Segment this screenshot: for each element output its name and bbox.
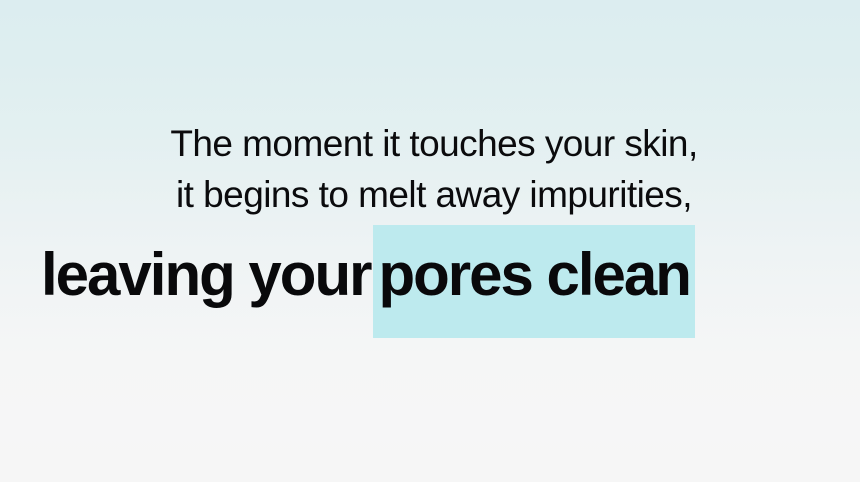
- headline-plain-text: leaving your: [41, 241, 374, 308]
- lede-line-1: The moment it touches your skin,: [0, 118, 860, 169]
- lede-text-block: The moment it touches your skin, it begi…: [0, 118, 860, 220]
- lede-line-2: it begins to melt away impurities,: [0, 169, 860, 220]
- promo-banner: The moment it touches your skin, it begi…: [0, 0, 860, 482]
- headline-text-block: leaving yourpores clean: [41, 229, 695, 337]
- headline-highlighted-text: pores clean: [373, 225, 695, 338]
